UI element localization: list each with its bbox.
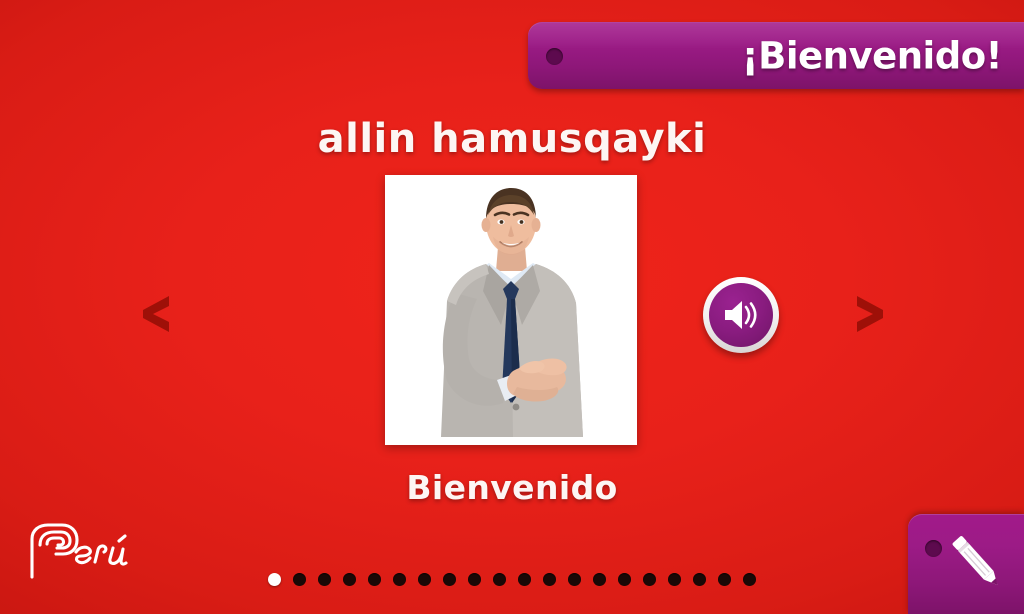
pagination-dot[interactable] xyxy=(268,573,281,586)
pagination-dot[interactable] xyxy=(718,573,731,586)
pagination-dot[interactable] xyxy=(318,573,331,586)
pagination-dots xyxy=(0,573,1024,586)
pagination-dot[interactable] xyxy=(693,573,706,586)
pagination-dot[interactable] xyxy=(668,573,681,586)
pagination-dot[interactable] xyxy=(293,573,306,586)
previous-card-button[interactable] xyxy=(128,286,184,342)
pagination-dot[interactable] xyxy=(743,573,756,586)
next-card-button[interactable] xyxy=(842,286,898,342)
pagination-dot[interactable] xyxy=(468,573,481,586)
edit-button[interactable] xyxy=(908,514,1024,614)
audio-play-button[interactable] xyxy=(703,277,779,353)
header-banner: ¡Bienvenido! xyxy=(528,22,1024,89)
punch-hole-icon xyxy=(925,540,942,557)
page-title: ¡Bienvenido! xyxy=(742,34,1002,77)
pagination-dot[interactable] xyxy=(443,573,456,586)
flashcard-translation: Bienvenido xyxy=(0,468,1024,507)
chevron-left-icon xyxy=(139,293,173,335)
pagination-dot[interactable] xyxy=(393,573,406,586)
pagination-dot[interactable] xyxy=(543,573,556,586)
pagination-dot[interactable] xyxy=(568,573,581,586)
pagination-dot[interactable] xyxy=(618,573,631,586)
flashcard-screen: ¡Bienvenido! allin hamusqayki xyxy=(0,0,1024,614)
pagination-dot[interactable] xyxy=(418,573,431,586)
peru-logo-mark xyxy=(18,521,150,579)
punch-hole-icon xyxy=(546,48,563,65)
pagination-dot[interactable] xyxy=(518,573,531,586)
pencil-icon xyxy=(942,528,1012,598)
pagination-dot[interactable] xyxy=(643,573,656,586)
pagination-dot[interactable] xyxy=(368,573,381,586)
flashcard-image xyxy=(385,175,637,445)
pagination-dot[interactable] xyxy=(593,573,606,586)
peru-spiral-logo[interactable] xyxy=(18,521,150,579)
pagination-dot[interactable] xyxy=(493,573,506,586)
handshake-photo xyxy=(385,175,637,445)
chevron-right-icon xyxy=(853,293,887,335)
flashcard-term: allin hamusqayki xyxy=(0,116,1024,162)
audio-button-inner xyxy=(709,283,773,347)
pagination-dot[interactable] xyxy=(343,573,356,586)
speaker-icon xyxy=(721,297,761,333)
